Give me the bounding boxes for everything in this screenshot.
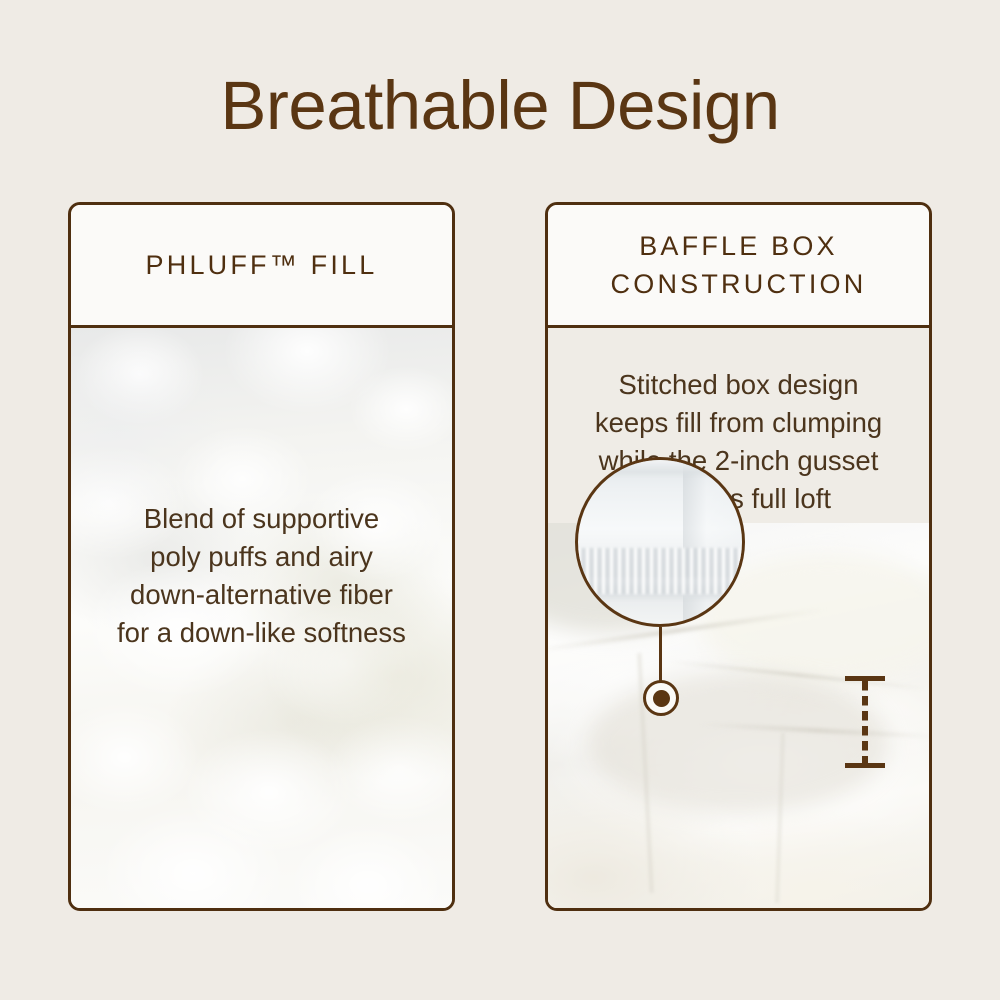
card-header-baffle-box: BAFFLE BOX CONSTRUCTION: [548, 205, 929, 328]
card-header-phluff-fill: PHLUFF™ FILL: [71, 205, 452, 328]
card-body-phluff-fill: Blend of supportive poly puffs and airy …: [71, 328, 452, 908]
card-header-title: PHLUFF™ FILL: [136, 246, 388, 284]
magnifier-panel-shade: [683, 460, 742, 624]
page-title: Breathable Design: [0, 68, 1000, 144]
callout-target-dot-icon: [643, 680, 679, 716]
callout-target-dot-core: [653, 690, 670, 707]
magnifier-stitch-detail: [578, 548, 742, 594]
measure-cap-bottom-icon: [845, 763, 885, 768]
card-body-baffle-box: Stitched box design keeps fill from clum…: [548, 328, 929, 908]
card-baffle-box: BAFFLE BOX CONSTRUCTION Stitched box des…: [545, 202, 932, 911]
card-phluff-fill: PHLUFF™ FILL Blend of supportive poly pu…: [68, 202, 455, 911]
card-header-title: BAFFLE BOX CONSTRUCTION: [601, 227, 877, 303]
card-body-text: Blend of supportive poly puffs and airy …: [71, 500, 452, 652]
measure-dashed-line-icon: [862, 681, 868, 763]
baffle-box-magnifier: [575, 457, 745, 627]
gusset-measurement-marker: [838, 676, 892, 768]
magnifier-seam: [578, 457, 742, 474]
callout-leader-line: [659, 627, 662, 683]
infographic-page: Breathable Design PHLUFF™ FILL Blend of …: [0, 0, 1000, 1000]
